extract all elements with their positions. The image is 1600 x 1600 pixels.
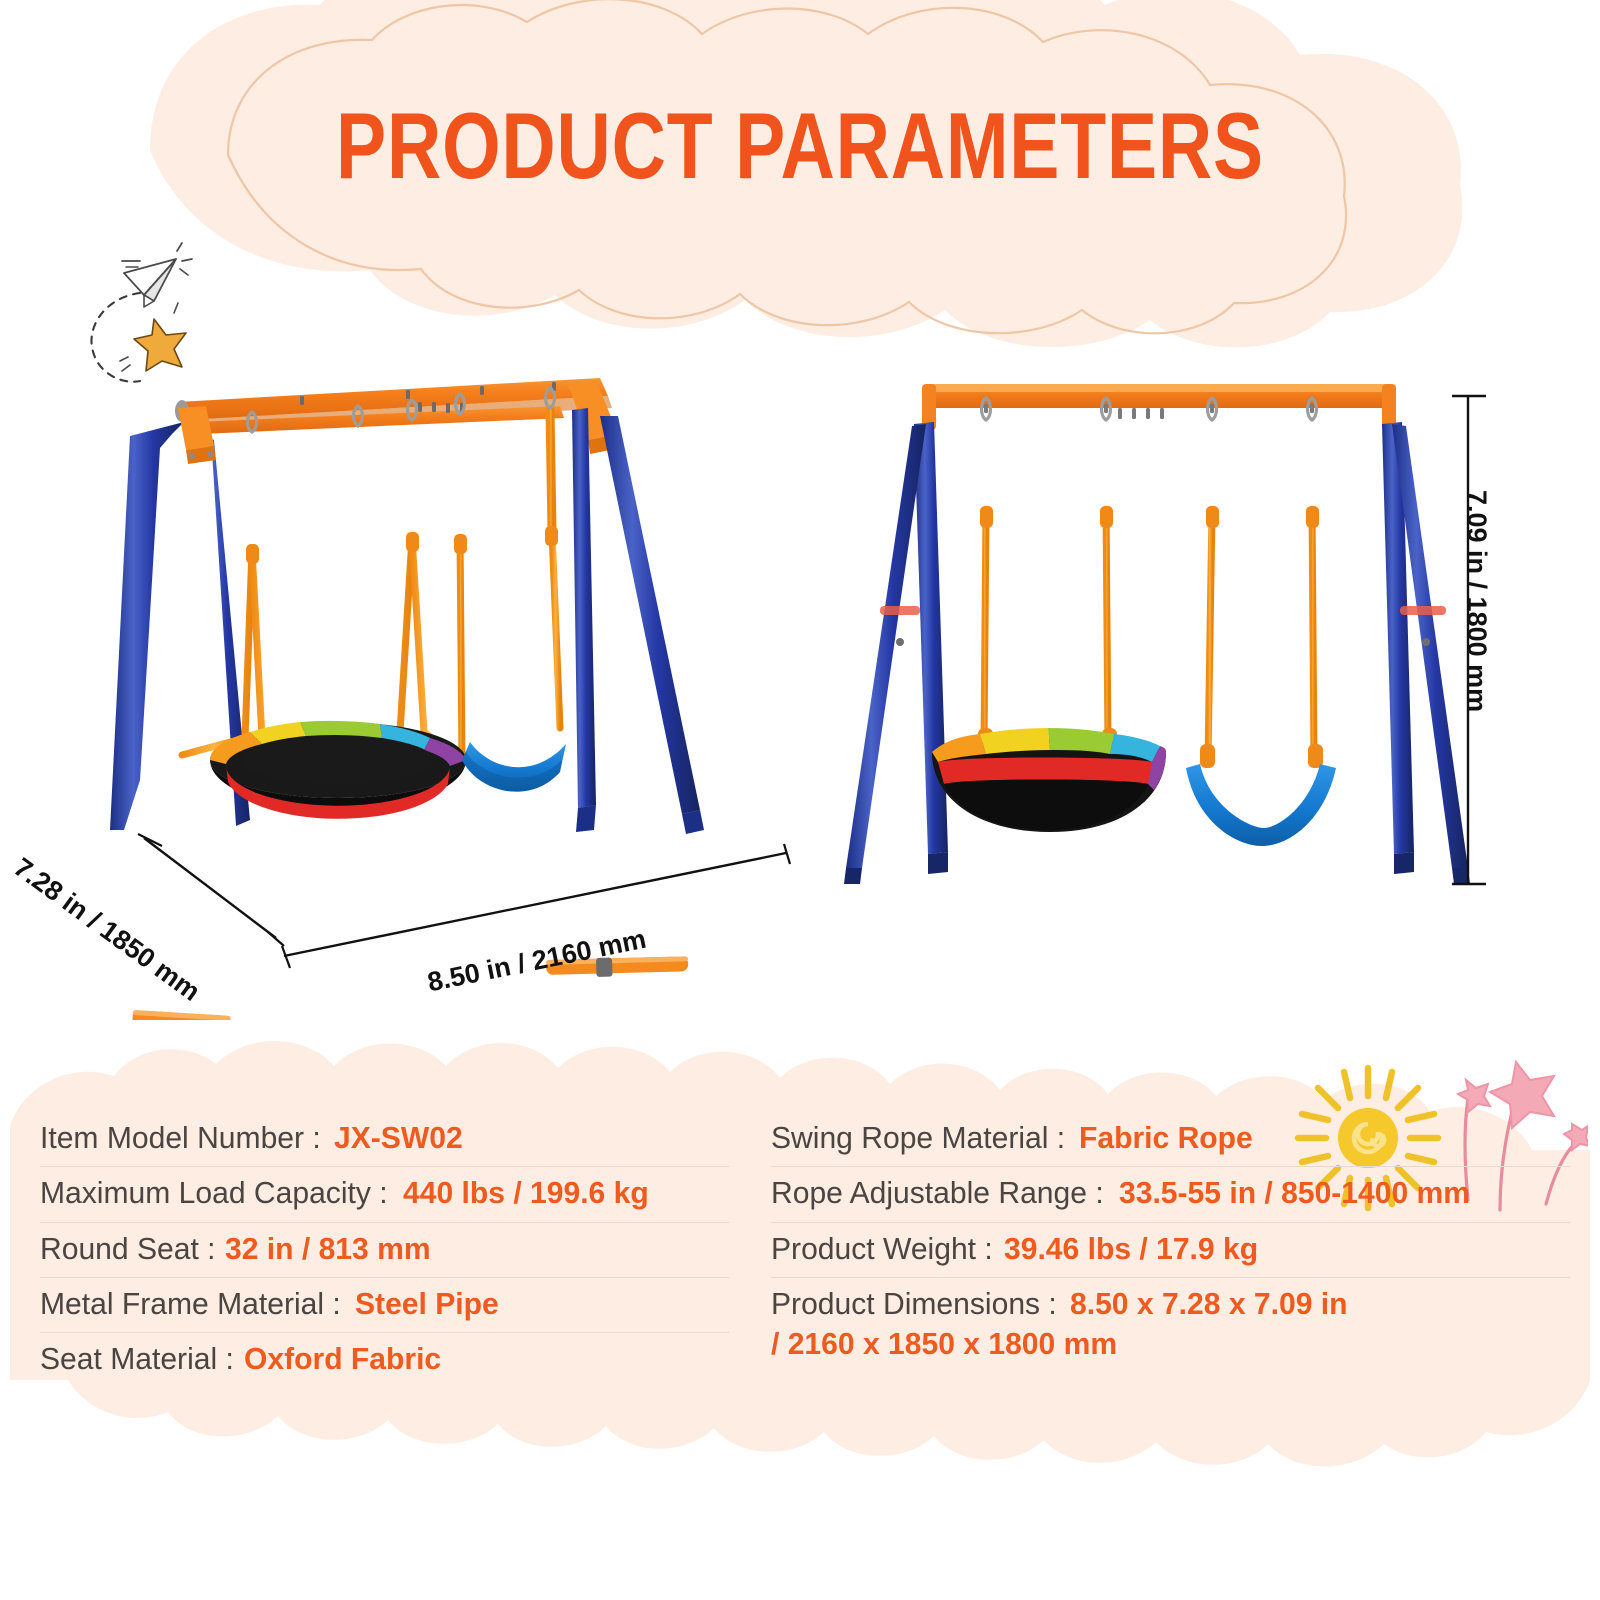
spec-row: Product Weight : 39.46 lbs / 17.9 kg: [771, 1223, 1570, 1278]
spec-label: Metal Frame Material :: [40, 1284, 341, 1324]
page-title: PRODUCT PARAMETERS: [160, 92, 1440, 200]
spec-table: Item Model Number : JX-SW02 Maximum Load…: [40, 1112, 1570, 1442]
spec-value: 32 in / 813 mm: [225, 1229, 431, 1269]
spec-row: Swing Rope Material : Fabric Rope: [771, 1112, 1570, 1167]
spec-label: Rope Adjustable Range :: [771, 1173, 1104, 1213]
spec-label: Product Weight :: [771, 1229, 993, 1269]
front-belt-seat: [1186, 764, 1336, 846]
spec-row: Rope Adjustable Range : 33.5-55 in / 850…: [771, 1167, 1570, 1222]
right-a-frame: [568, 380, 704, 834]
spec-value: 33.5-55 in / 850-1400 mm: [1119, 1173, 1470, 1213]
spec-label: Maximum Load Capacity :: [40, 1173, 388, 1213]
infographic-root: PRODUCT PARAMETERS: [0, 0, 1600, 1600]
side-view-swing-set: [110, 378, 704, 1020]
spec-value-line2: / 2160 x 1850 x 1800 mm: [771, 1324, 1117, 1364]
dimension-lines: [138, 396, 1486, 968]
spec-value: Fabric Rope: [1079, 1118, 1253, 1158]
front-top-beam: [922, 384, 1396, 430]
spec-row: Maximum Load Capacity : 440 lbs / 199.6 …: [40, 1167, 729, 1222]
front-saucer-seat: [932, 728, 1166, 832]
spec-label: Swing Rope Material :: [771, 1118, 1065, 1158]
front-ropes: [984, 422, 1314, 758]
spec-label: Round Seat :: [40, 1229, 216, 1269]
spec-row: Seat Material : Oxford Fabric: [40, 1333, 729, 1387]
belt-seat: [462, 742, 566, 792]
spec-value: Steel Pipe: [355, 1284, 499, 1324]
spec-value: 39.46 lbs / 17.9 kg: [1004, 1229, 1258, 1269]
front-right-legs: [1382, 422, 1470, 884]
spec-value: JX-SW02: [334, 1118, 463, 1158]
spec-value: 8.50 x 7.28 x 7.09 in: [1070, 1284, 1348, 1324]
spec-row: Item Model Number : JX-SW02: [40, 1112, 729, 1167]
spec-column-left: Item Model Number : JX-SW02 Maximum Load…: [40, 1112, 729, 1442]
spec-label: Item Model Number :: [40, 1118, 321, 1158]
belt-ropes-side: [460, 410, 560, 760]
spec-label: Product Dimensions :: [771, 1284, 1057, 1324]
dimension-label-height: 7.09 in / 1800 mm: [1461, 490, 1492, 712]
product-illustrations: [0, 360, 1600, 1020]
spec-row: Metal Frame Material : Steel Pipe: [40, 1278, 729, 1333]
spec-row: Round Seat : 32 in / 813 mm: [40, 1223, 729, 1278]
spec-label: Seat Material :: [40, 1339, 234, 1379]
paper-plane-glyph: [122, 243, 192, 307]
spec-row: Product Dimensions : 8.50 x 7.28 x 7.09 …: [771, 1278, 1570, 1373]
spec-value: 440 lbs / 199.6 kg: [403, 1173, 649, 1213]
spec-value: Oxford Fabric: [244, 1339, 441, 1379]
left-cross-brace: [132, 1010, 231, 1020]
front-left-legs: [844, 422, 948, 884]
front-view-swing-set: [844, 384, 1470, 884]
spec-column-right: Swing Rope Material : Fabric Rope Rope A…: [771, 1112, 1570, 1442]
